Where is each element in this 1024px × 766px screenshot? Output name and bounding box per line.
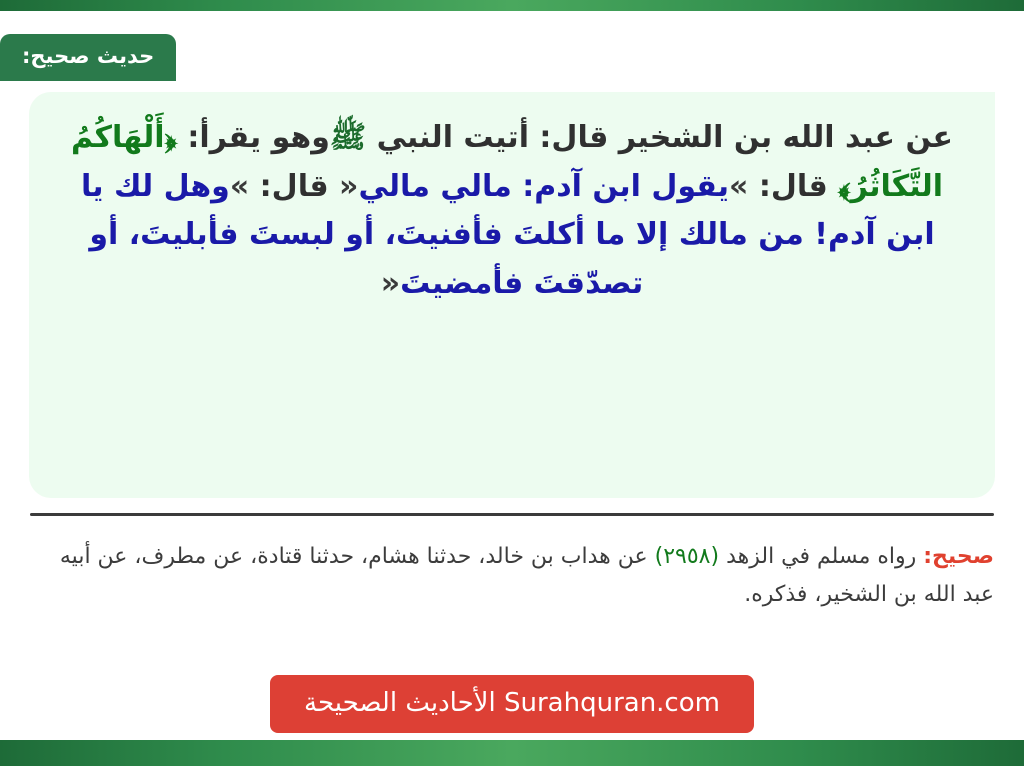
hadith-narrator-intro: عن عبد الله بن الشخير قال: أتيت النبي — [366, 120, 953, 155]
site-domain-label: Surahquran.com — [504, 688, 720, 718]
hadith-reciting-intro: وهو يقرأ: — [177, 120, 330, 155]
hadith-text: عن عبد الله بن الشخير قال: أتيت النبي ﷺو… — [63, 114, 961, 308]
bottom-gradient-bar — [0, 740, 1024, 766]
grade-label: صحيح: — [923, 544, 994, 569]
hadith-said-2: قال: — [249, 169, 339, 204]
hadith-page: حديث صحيح: عن عبد الله بن الشخير قال: أت… — [0, 11, 1024, 740]
section-divider — [30, 513, 994, 516]
hadith-source-text: صحيح: رواه مسلم في الزهد (٢٩٥٨) عن هداب … — [30, 538, 994, 614]
source-reference-number: (٢٩٥٨) — [655, 544, 719, 569]
footer-row: Surahquran.com الأحاديث الصحيحة — [0, 675, 1024, 733]
close-quote-mark-2: « — [381, 266, 400, 301]
close-quote-mark-1: « — [339, 169, 358, 204]
hadith-card: عن عبد الله بن الشخير قال: أتيت النبي ﷺو… — [29, 92, 995, 498]
open-quote-mark-2: » — [230, 169, 249, 204]
badge-row: حديث صحيح: — [0, 34, 995, 81]
hadith-said-1: قال: — [748, 169, 838, 204]
site-arabic-label: الأحاديث الصحيحة — [304, 688, 496, 718]
site-branding-button[interactable]: Surahquran.com الأحاديث الصحيحة — [270, 675, 754, 733]
hadith-quote-1: يقول ابن آدم: مالي مالي — [358, 169, 729, 204]
hadith-grade-badge: حديث صحيح: — [0, 34, 176, 81]
open-quote-mark-1: » — [729, 169, 748, 204]
top-gradient-bar — [0, 0, 1024, 11]
footer-spacer — [496, 688, 504, 718]
salawat-symbol-icon: ﷺ — [330, 120, 366, 155]
source-before-reference: رواه مسلم في الزهد — [719, 544, 923, 569]
